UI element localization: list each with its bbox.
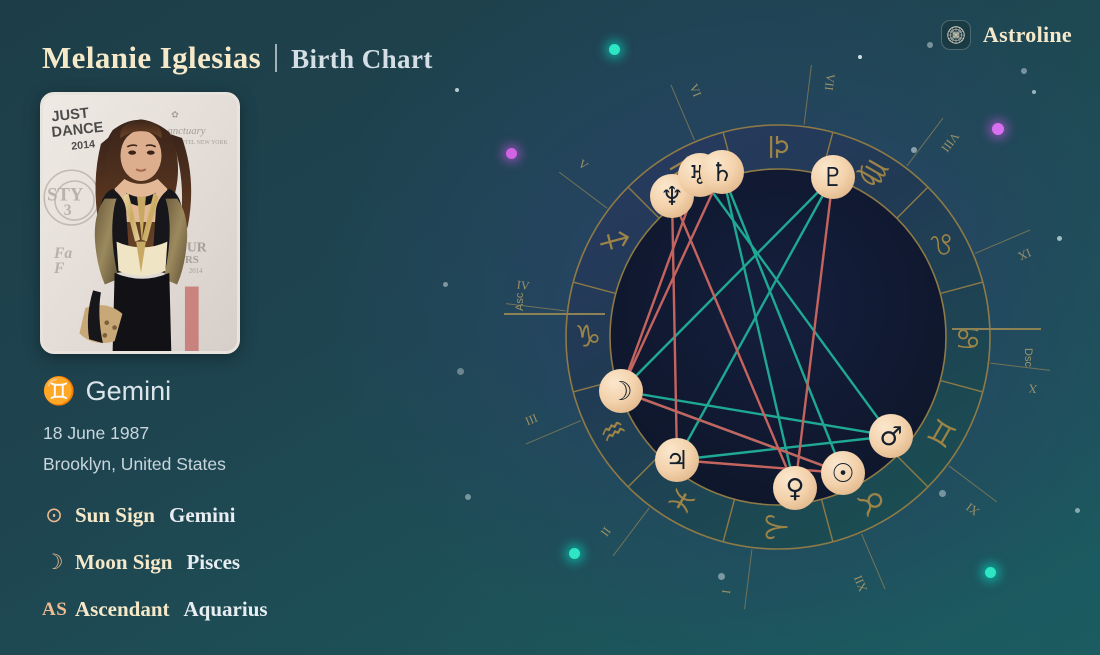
venus-glyph-icon: ♀ — [785, 474, 804, 504]
zodiac-sign-cancer-glyph: ♋ — [955, 320, 982, 355]
page-subtitle: Birth Chart — [291, 44, 433, 75]
house-numeral-X: X — [1027, 381, 1038, 396]
page-title: Melanie Iglesias Birth Chart — [42, 40, 433, 76]
house-numeral-III: III — [523, 411, 540, 429]
zodiac-sign-libra-glyph: ♎ — [761, 134, 796, 161]
fact-moon-sign: ☽ Moon Sign Pisces — [42, 539, 268, 586]
house-spoke — [745, 549, 752, 609]
star-dot — [443, 282, 448, 287]
svg-text:F: F — [53, 260, 65, 277]
house-spoke — [804, 65, 811, 125]
fact-ascendant: AS Ascendant Aquarius — [42, 586, 268, 633]
house-spoke — [990, 363, 1050, 370]
neptune-glyph-icon: ♆ — [660, 182, 683, 212]
house-numeral-VI: VI — [687, 82, 705, 99]
house-spoke — [559, 172, 607, 208]
planet-sun[interactable]: ☉ — [821, 451, 865, 495]
zodiac-name: Gemini — [86, 376, 172, 407]
planet-saturn[interactable]: ♄ — [700, 150, 744, 194]
person-name: Melanie Iglesias — [42, 40, 261, 76]
svg-text:✿: ✿ — [171, 109, 179, 119]
house-numeral-XI: XI — [963, 500, 982, 519]
gemini-glyph-icon: ♊ — [42, 378, 76, 405]
birth-details: 18 June 1987 Brooklyn, United States — [43, 418, 226, 480]
planet-pluto[interactable]: ♇ — [811, 155, 855, 199]
planet-mars[interactable]: ♂ — [869, 414, 913, 458]
natal-chart-wheel[interactable]: IIIIIIIVVVIVIIVIIIIXXXIXII ♐♏♎♍♌♋♊♉♈♓♒♑ … — [455, 0, 1100, 655]
house-numeral-II: II — [598, 524, 614, 539]
jupiter-glyph-icon: ♃ — [665, 446, 688, 476]
house-numeral-V: V — [576, 157, 592, 174]
planet-venus[interactable]: ♀ — [773, 466, 817, 510]
sun-icon: ⊙ — [42, 505, 66, 526]
sun-glyph-icon: ☉ — [831, 459, 854, 489]
mars-glyph-icon: ♂ — [879, 422, 902, 452]
zodiac-sign-aries-glyph: ♈ — [761, 514, 796, 541]
house-spoke — [949, 466, 997, 502]
planet-moon[interactable]: ☽ — [599, 369, 643, 413]
svg-text:2014: 2014 — [71, 138, 96, 152]
svg-text:2014: 2014 — [189, 268, 203, 275]
fact-value: Aquarius — [184, 597, 268, 622]
planet-jupiter[interactable]: ♃ — [655, 438, 699, 482]
house-numeral-IV: IV — [516, 277, 531, 292]
ascendant-label: Asc — [514, 292, 526, 311]
moon-glyph-icon: ☽ — [609, 377, 632, 407]
svg-text:3: 3 — [64, 202, 72, 219]
birth-chart-page: Melanie Iglesias Birth Chart Astroline — [0, 0, 1100, 655]
fact-value: Pisces — [186, 550, 240, 575]
zodiac-sign-capricorn-glyph: ♑ — [575, 320, 602, 355]
svg-text:RS: RS — [185, 254, 199, 266]
person-photo: JUST DANCE 2014 STY 3 Fa F ✿ anctuary HO… — [40, 92, 240, 354]
house-spoke — [907, 118, 943, 166]
fact-value: Gemini — [169, 503, 236, 528]
fact-label: Sun Sign — [75, 503, 155, 528]
fact-sun-sign: ⊙ Sun Sign Gemini — [42, 492, 268, 539]
ascendant-icon: AS — [42, 600, 66, 619]
fact-label: Ascendant — [75, 597, 170, 622]
svg-text:UR: UR — [187, 239, 207, 254]
moon-icon: ☽ — [42, 552, 66, 573]
pluto-glyph-icon: ♇ — [821, 163, 844, 193]
fact-list: ⊙ Sun Sign Gemini ☽ Moon Sign Pisces AS … — [42, 492, 268, 633]
house-numeral-VIII: VIII — [938, 130, 962, 155]
house-spoke — [613, 508, 649, 556]
house-numeral-XII: XII — [851, 573, 870, 594]
descendant-label: Dsc — [1022, 348, 1034, 367]
house-numeral-I: I — [719, 589, 733, 595]
birth-place: Brooklyn, United States — [43, 449, 226, 480]
birth-date: 18 June 1987 — [43, 418, 226, 449]
title-divider — [275, 44, 277, 72]
saturn-glyph-icon: ♄ — [710, 158, 733, 188]
house-numeral-IX: IX — [1016, 246, 1033, 264]
house-numeral-VII: VII — [822, 73, 838, 91]
zodiac-headline: ♊ Gemini — [42, 376, 171, 407]
fact-label: Moon Sign — [75, 550, 172, 575]
